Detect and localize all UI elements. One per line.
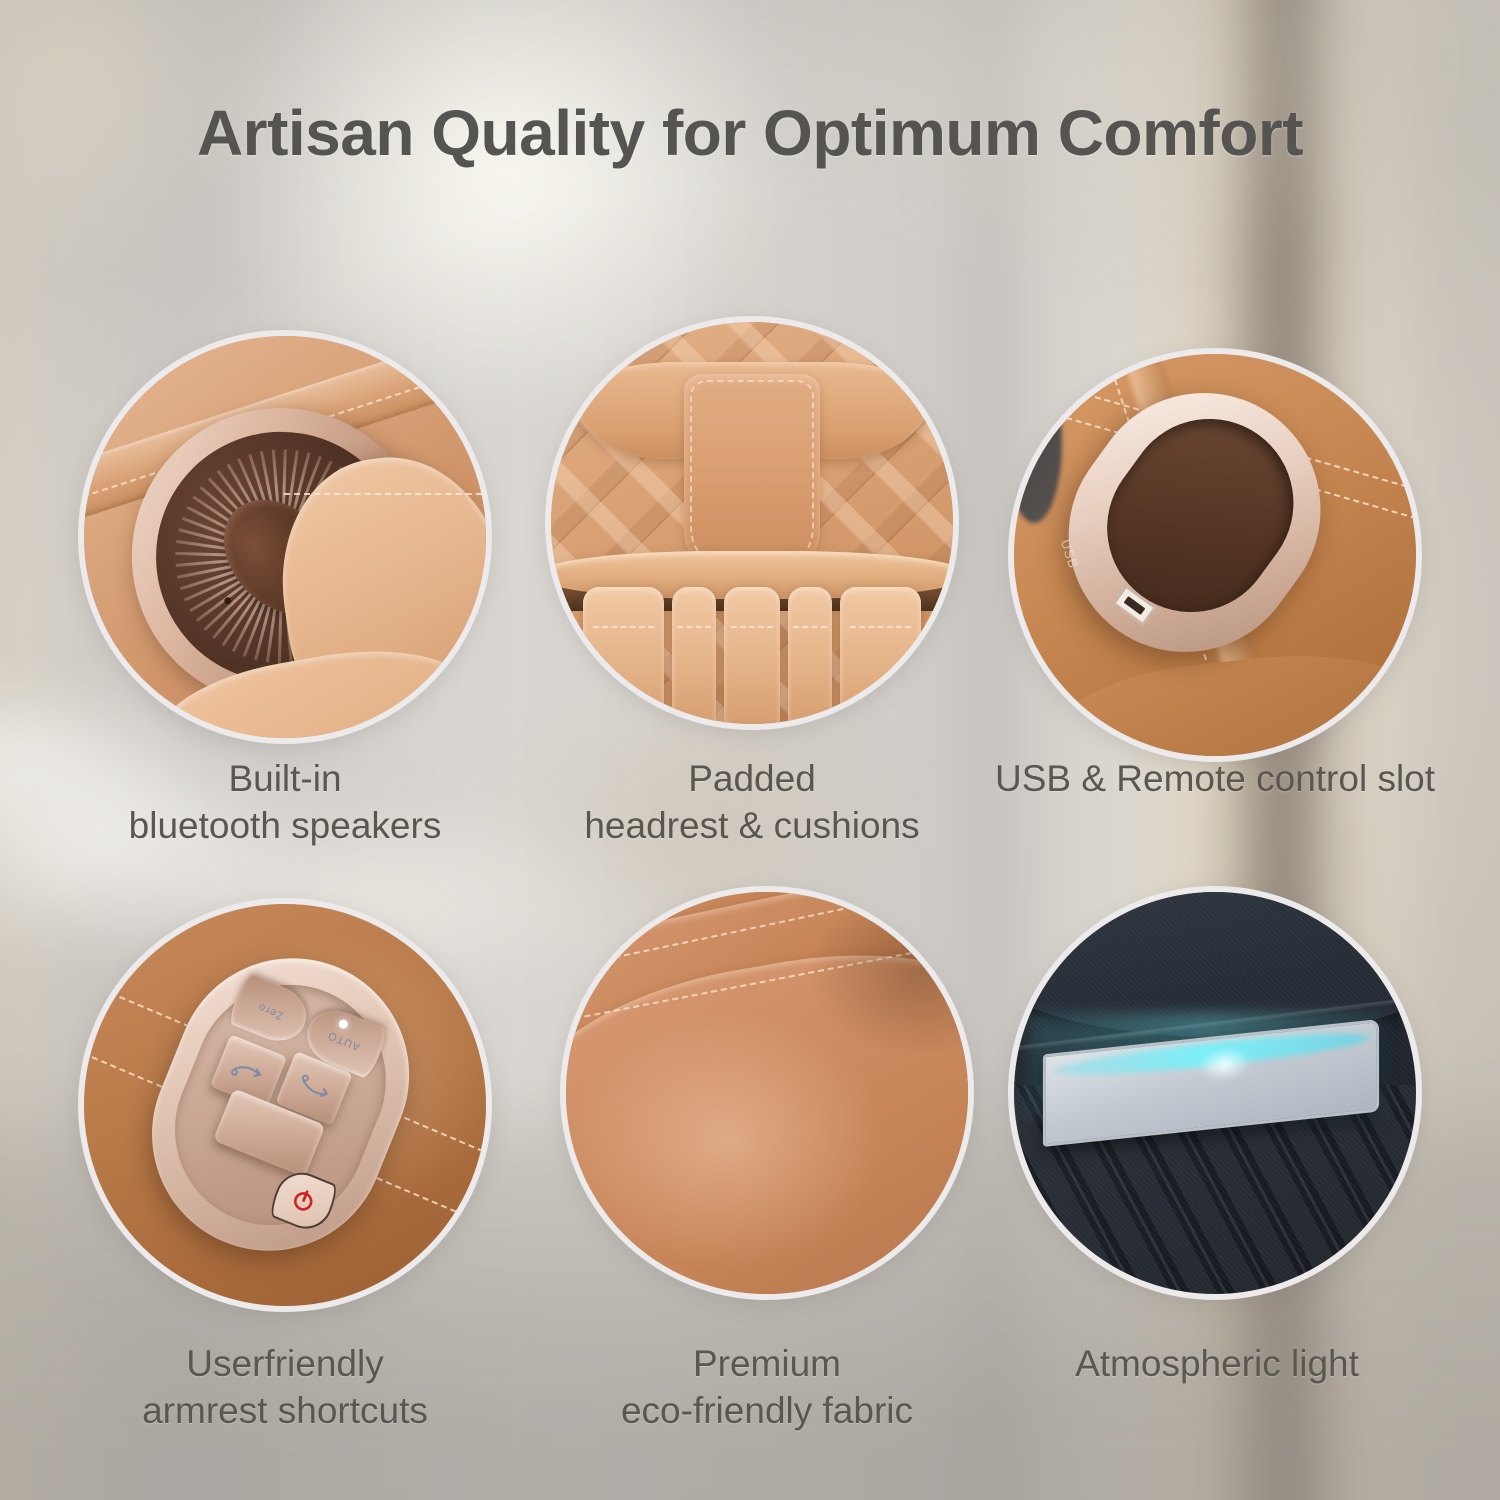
feature-caption-atmospheric-light: Atmospheric light <box>1010 1340 1424 1387</box>
feature-caption-eco-fabric: Premium eco-friendly fabric <box>545 1340 989 1435</box>
feature-image-padded-headrest <box>545 316 959 730</box>
feature-caption-armrest-shortcuts: Userfriendly armrest shortcuts <box>60 1340 510 1435</box>
feature-caption-usb-remote-slot: USB & Remote control slot <box>985 755 1445 802</box>
dark-fabric-backdrop <box>1014 892 1416 1294</box>
feature-caption-bluetooth-speakers: Built-in bluetooth speakers <box>78 755 492 850</box>
feature-image-usb-remote-slot: USB <box>1008 348 1422 762</box>
remote-control-well <box>1074 385 1327 645</box>
feature-image-bluetooth-speakers <box>78 330 492 744</box>
feature-image-atmospheric-light <box>1008 886 1422 1300</box>
eco-leather-backdrop <box>566 892 968 1294</box>
recline-back-icon <box>225 1049 273 1095</box>
feature-image-eco-fabric <box>560 886 974 1300</box>
slot-bezel-ring: USB <box>1023 348 1368 699</box>
leg-cushion <box>583 587 663 730</box>
auto-program-button-label: AUTO <box>326 1029 362 1053</box>
armrest-leather-backdrop: Zero AUTO <box>84 904 486 1306</box>
leather-sheen <box>566 892 968 1294</box>
center-back-panel <box>684 374 821 575</box>
leg-rest-icon <box>290 1065 338 1111</box>
power-button[interactable] <box>267 1166 340 1237</box>
light-hotspot <box>1198 1044 1251 1084</box>
feature-grid: Built-in bluetooth speakers Padded headr… <box>0 0 1500 1500</box>
usb-leather-backdrop: USB <box>1014 354 1416 756</box>
zero-gravity-button-label: Zero <box>257 1001 286 1022</box>
feature-caption-padded-headrest: Padded headrest & cushions <box>545 755 959 850</box>
leg-cushion <box>840 587 920 730</box>
cushion-stitch-line <box>283 492 481 494</box>
leg-cushion <box>724 587 780 730</box>
leg-cushion <box>788 587 832 730</box>
power-icon <box>288 1185 321 1217</box>
speaker-leather-backdrop <box>84 336 486 738</box>
feature-image-armrest-shortcuts: Zero AUTO <box>78 898 492 1312</box>
quilted-leather-backdrop <box>551 322 953 724</box>
usb-port-label: USB <box>1058 537 1081 570</box>
leg-cushion <box>672 587 716 730</box>
